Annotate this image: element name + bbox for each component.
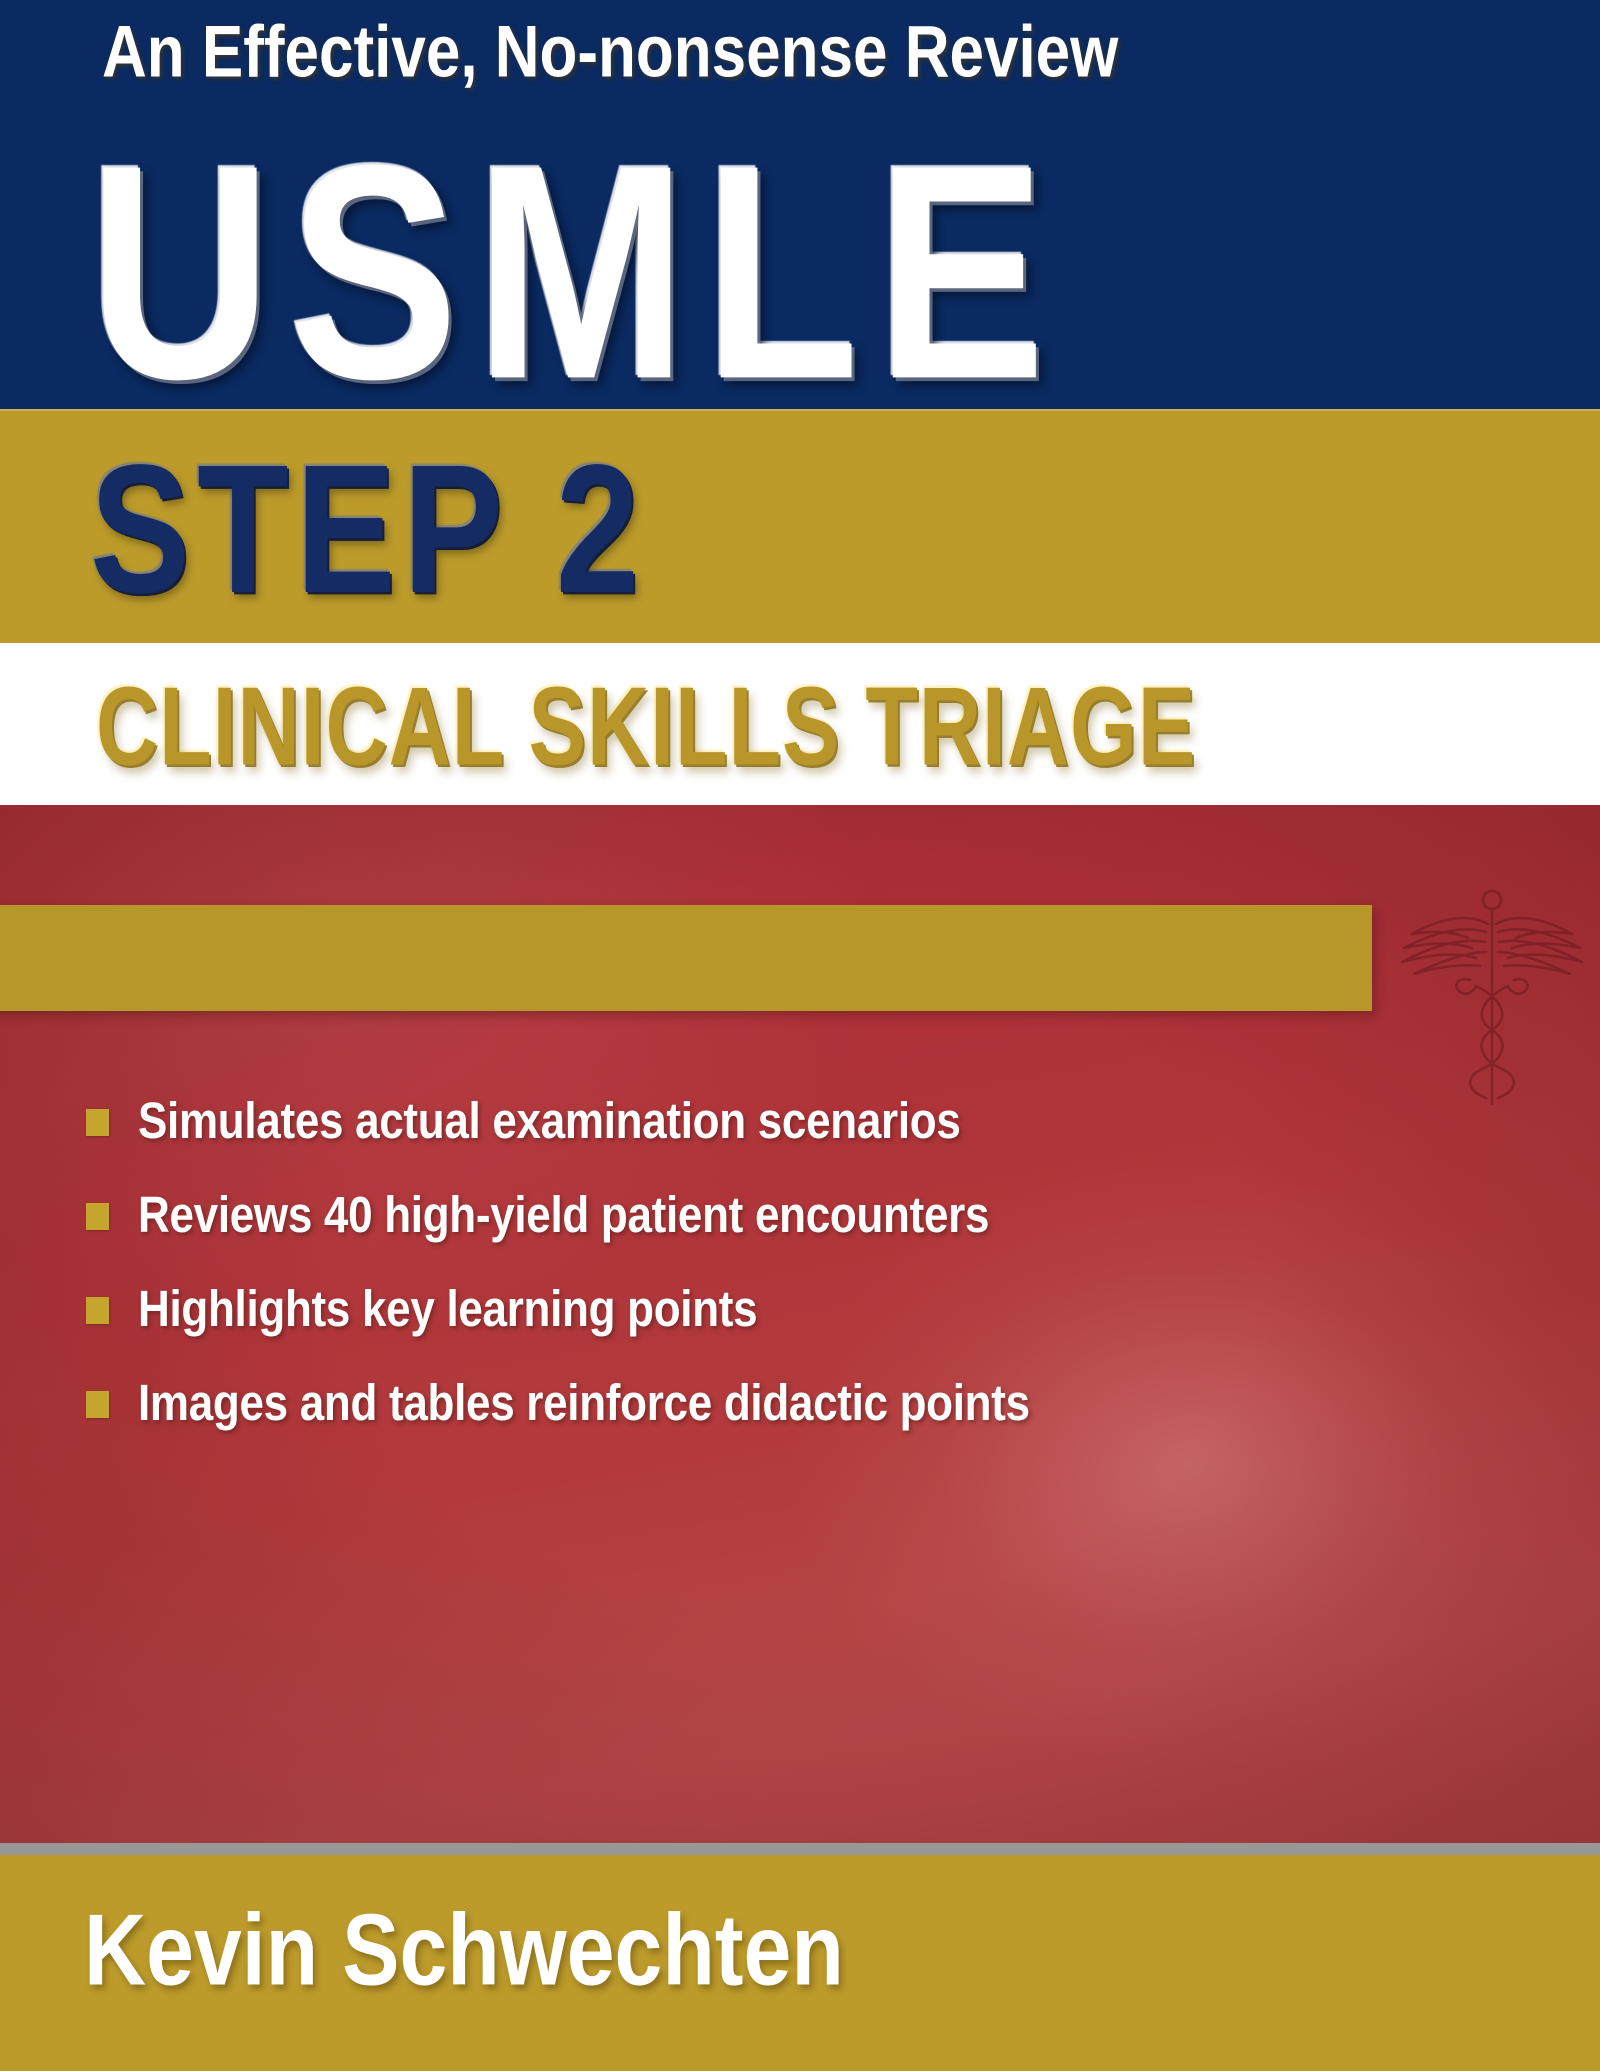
list-item: Simulates actual examination scenarios [86,1075,1386,1169]
square-bullet-icon [86,1109,109,1136]
title-word-triage: TRIAGE [865,664,1196,789]
subtitle-text: An Effective, No-nonsense Review [102,14,1118,92]
title-word-skills: SKILLS [529,664,866,789]
list-item: Highlights key learning points [86,1263,1386,1357]
list-item-label: Simulates actual examination scenarios [138,1094,961,1150]
list-item-label: Reviews 40 high-yield patient encounters [138,1188,989,1244]
square-bullet-icon [86,1203,109,1230]
title-word-clinical: CLINICAL [96,664,529,789]
book-cover: USMLE STEP 2 CLINICAL SKILLS TRIAGE [0,0,1600,2071]
title-white-band: CLINICAL SKILLS TRIAGE [0,643,1600,805]
step-label: STEP 2 [90,437,646,620]
caduceus-icon [1392,872,1592,1122]
square-bullet-icon [86,1391,109,1418]
step-gold-band: STEP 2 [0,409,1600,643]
list-item: Images and tables reinforce didactic poi… [86,1357,1386,1451]
gray-divider [0,1843,1600,1855]
list-item-label: Images and tables reinforce didactic poi… [138,1376,1030,1432]
feature-bullet-list: Simulates actual examination scenarios R… [86,1075,1386,1451]
square-bullet-icon [86,1297,109,1324]
exam-wordmark: USMLE [88,120,1062,425]
author-name: Kevin Schwechten [84,1896,844,2005]
subtitle-banner [0,905,1372,1011]
list-item-label: Highlights key learning points [138,1282,757,1338]
list-item: Reviews 40 high-yield patient encounters [86,1169,1386,1263]
book-title: CLINICAL SKILLS TRIAGE [96,667,1196,787]
